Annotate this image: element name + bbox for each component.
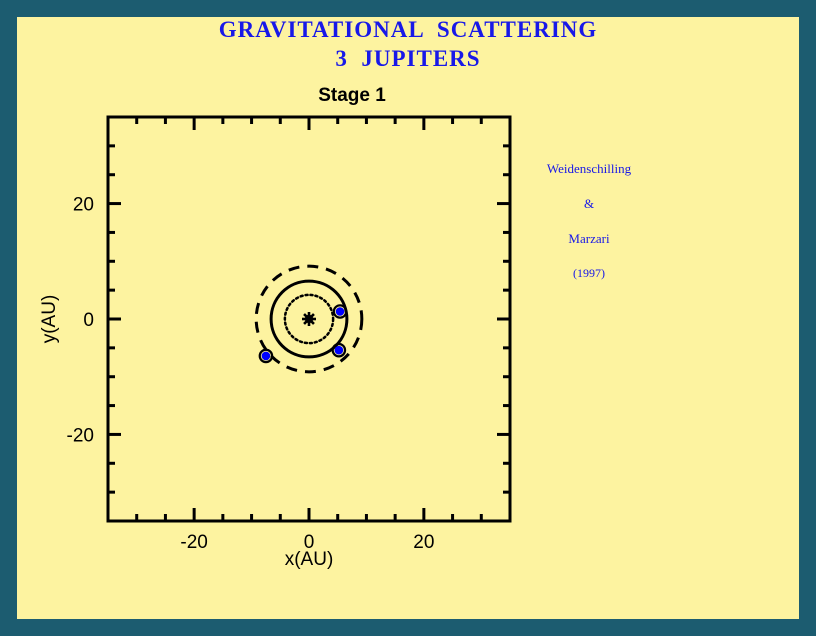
x-axis-label: x(AU) [285, 549, 334, 570]
y-tick-label-20: 20 [73, 195, 94, 216]
jupiter-3 [260, 350, 272, 362]
y-tick-label-0: 0 [83, 310, 94, 331]
scatter-plot-svg: -20020-20020 x(AU) y(AU) [17, 17, 799, 619]
plot-area: -20020-20020 x(AU) y(AU) [17, 17, 799, 619]
x-tick-label-20: 20 [413, 532, 434, 553]
central-star [302, 312, 316, 326]
y-axis-label: y(AU) [39, 295, 60, 344]
figure-canvas: GRAVITATIONAL SCATTERING 3 JUPITERS Stag… [17, 17, 799, 619]
figure-window: GRAVITATIONAL SCATTERING 3 JUPITERS Stag… [0, 0, 816, 636]
jupiter-1 [334, 305, 346, 317]
jupiter-2 [333, 344, 345, 356]
axis-tick-labels: -20020-20020 [67, 195, 435, 553]
x-tick-label--20: -20 [180, 532, 207, 553]
y-tick-label--20: -20 [67, 425, 94, 446]
